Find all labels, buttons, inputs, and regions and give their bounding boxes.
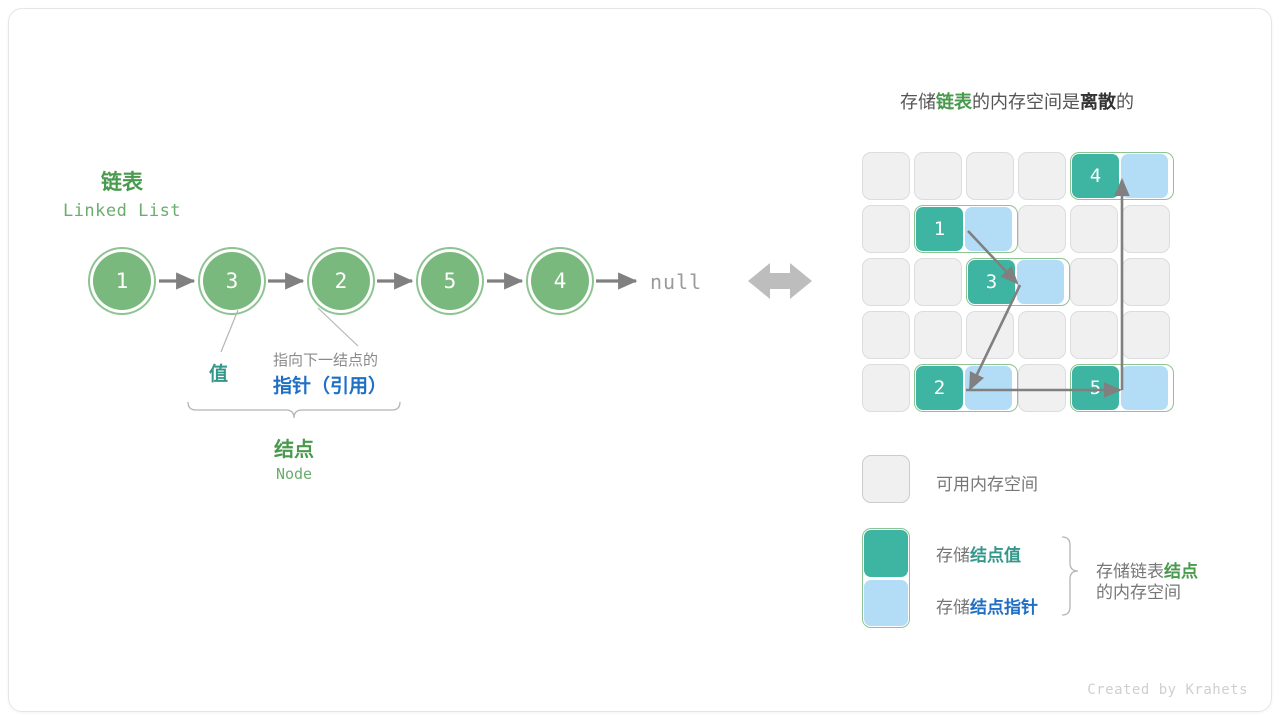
memory-cell-r4c0 [862, 364, 910, 412]
legend-pointer-label: 存储结点指针 [936, 593, 1038, 618]
legend-free-swatch [862, 455, 910, 503]
memory-title-part2: 的内存空间是 [972, 92, 1080, 112]
list-node-4-value: 4 [554, 269, 567, 293]
memory-cell-r0c2 [966, 152, 1014, 200]
memory-cell-r3c5 [1122, 311, 1170, 359]
memory-node-2: 2 [914, 364, 1018, 412]
memory-cell-r4c3 [1018, 364, 1066, 412]
legend-value-label: 存储结点值 [936, 541, 1021, 566]
footer-credit: Created by Krahets [1087, 682, 1248, 698]
memory-title: 存储链表的内存空间是离散的 [900, 88, 1134, 114]
list-node-3: 5 [421, 252, 479, 310]
memory-node-5-pointer [1121, 366, 1168, 410]
memory-cell-r1c0 [862, 205, 910, 253]
legend-pointer-prefix: 存储 [936, 598, 970, 617]
memory-node-1: 1 [914, 205, 1018, 253]
memory-cell-r0c0 [862, 152, 910, 200]
memory-cell-r2c0 [862, 258, 910, 306]
memory-cell-r1c4 [1070, 205, 1118, 253]
memory-cell-r2c5 [1122, 258, 1170, 306]
list-node-1: 3 [203, 252, 261, 310]
legend-free-label: 可用内存空间 [936, 470, 1038, 495]
memory-node-1-value: 1 [916, 207, 963, 251]
memory-node-2-pointer [965, 366, 1012, 410]
legend-pointer-highlight: 结点指针 [970, 598, 1038, 617]
memory-title-highlight-linkedlist: 链表 [936, 92, 972, 112]
list-node-2-value: 2 [335, 269, 348, 293]
memory-cell-r1c5 [1122, 205, 1170, 253]
legend-brace-line2: 的内存空间 [1096, 578, 1181, 603]
memory-cell-r3c4 [1070, 311, 1118, 359]
list-node-3-value: 5 [444, 269, 457, 293]
list-node-2: 2 [312, 252, 370, 310]
linked-list-title-en: Linked List [63, 201, 181, 221]
memory-cell-r3c0 [862, 311, 910, 359]
memory-node-4-pointer [1121, 154, 1168, 198]
list-node-0: 1 [93, 252, 151, 310]
pointer-annotation-subtitle: 指向下一结点的 [273, 349, 378, 370]
legend-value-swatch [864, 530, 908, 577]
memory-cell-r3c2 [966, 311, 1014, 359]
memory-cell-r1c3 [1018, 205, 1066, 253]
memory-title-highlight-discrete: 离散 [1080, 92, 1116, 112]
memory-node-3-value: 3 [968, 260, 1015, 304]
list-node-4: 4 [531, 252, 589, 310]
memory-node-3-pointer [1017, 260, 1064, 304]
linked-list-title-cn: 链表 [101, 166, 143, 196]
memory-node-5-value: 5 [1072, 366, 1119, 410]
legend-value-highlight: 结点值 [970, 546, 1021, 565]
memory-cell-r2c4 [1070, 258, 1118, 306]
memory-node-4: 4 [1070, 152, 1174, 200]
memory-node-3: 3 [966, 258, 1070, 306]
memory-cell-r0c3 [1018, 152, 1066, 200]
list-node-0-value: 1 [116, 269, 129, 293]
memory-node-2-value: 2 [916, 366, 963, 410]
node-bracket-label-en: Node [276, 465, 312, 483]
memory-node-1-pointer [965, 207, 1012, 251]
memory-cell-r2c1 [914, 258, 962, 306]
list-node-1-value: 3 [226, 269, 239, 293]
legend-pointer-swatch [864, 580, 908, 627]
value-annotation-label: 值 [209, 359, 228, 386]
legend-node-swatch [862, 528, 910, 628]
node-bracket-label-cn: 结点 [274, 433, 314, 462]
memory-cell-r3c1 [914, 311, 962, 359]
memory-cell-r0c1 [914, 152, 962, 200]
diagram-canvas: 链表 Linked List 1 3 2 5 4 null 值 指向下一结点的 … [0, 0, 1280, 720]
memory-node-5: 5 [1070, 364, 1174, 412]
memory-node-4-value: 4 [1072, 154, 1119, 198]
legend-value-prefix: 存储 [936, 546, 970, 565]
pointer-annotation-label: 指针（引用） [273, 371, 387, 398]
null-terminator-label: null [650, 270, 702, 294]
memory-title-part1: 存储 [900, 92, 936, 112]
memory-cell-r3c3 [1018, 311, 1066, 359]
memory-title-part3: 的 [1116, 92, 1134, 112]
